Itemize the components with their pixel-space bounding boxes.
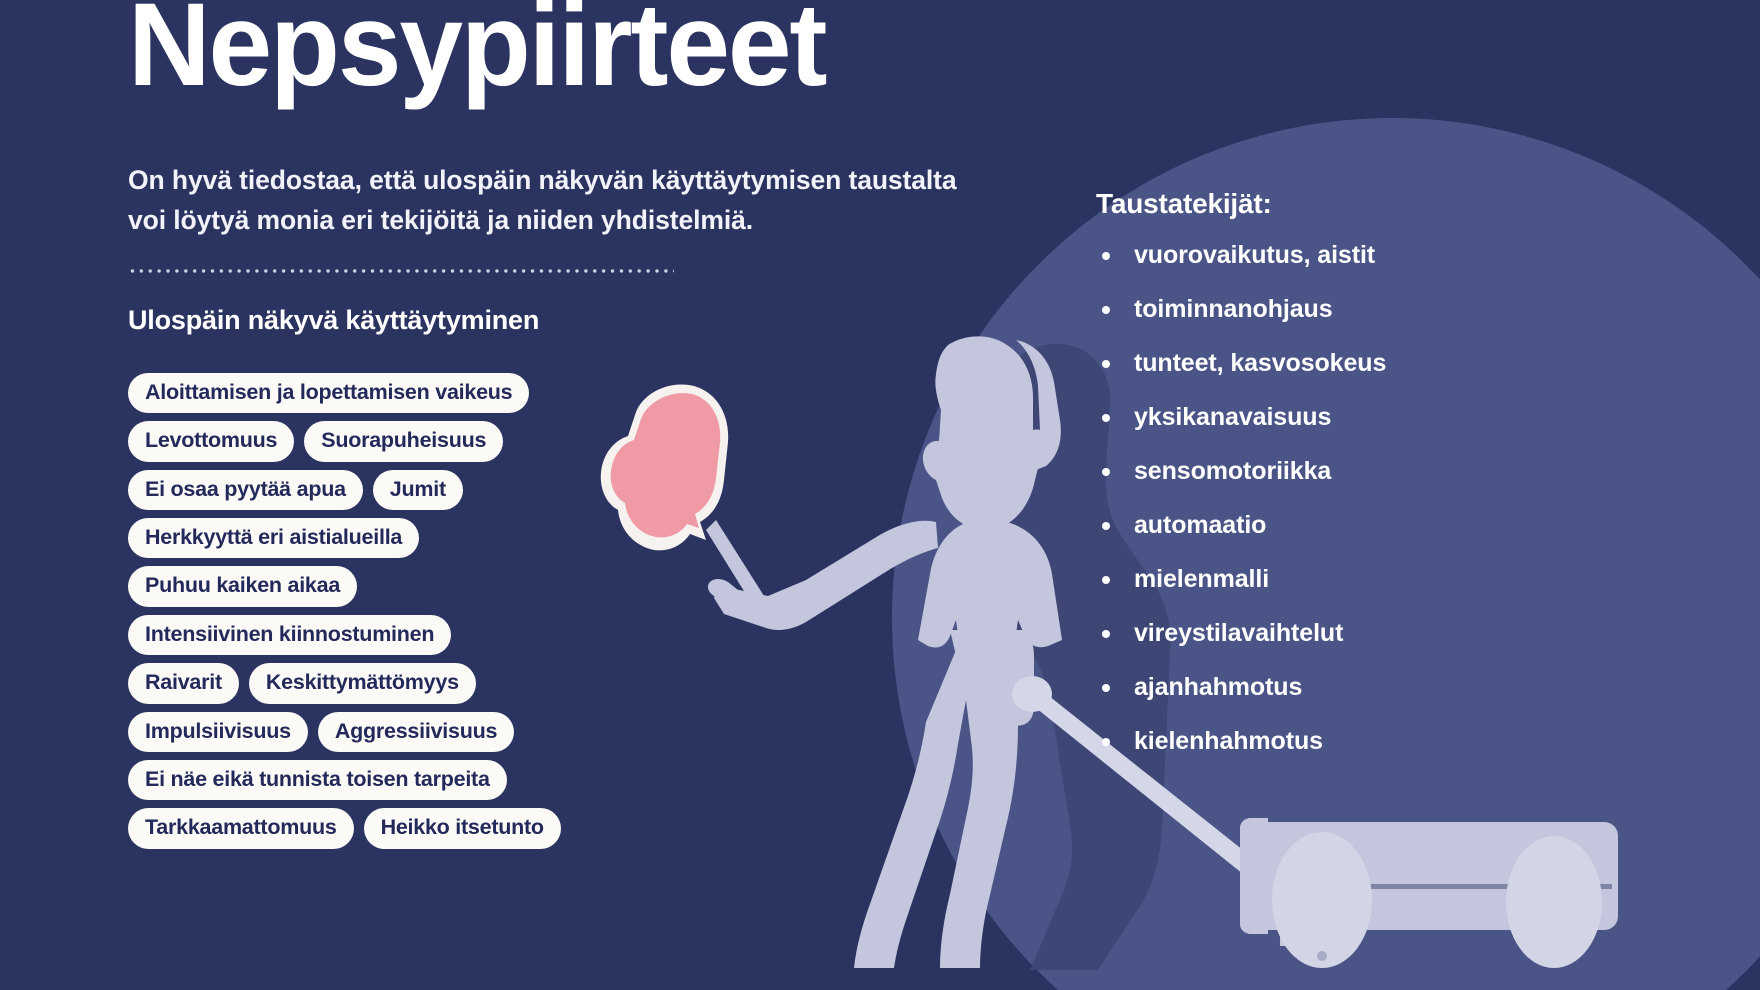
list-item: vireystilavaihtelut [1096,620,1696,648]
behaviour-pill[interactable]: Heikko itsetunto [364,808,561,848]
left-column: Nepsypiirteet On hyvä tiedostaa, että ul… [0,0,1000,990]
pill-row: Tarkkaamattomuus Heikko itsetunto [128,808,768,848]
pill-row: Impulsiivisuus Aggressiivisuus [128,712,768,752]
behaviour-pill[interactable]: Herkkyyttä eri aistialueilla [128,518,419,558]
bullet-icon [1102,468,1110,476]
list-item: ajanhahmotus [1096,674,1696,702]
intro-paragraph: On hyvä tiedostaa, että ulospäin näkyvän… [128,160,958,241]
behaviour-pill[interactable]: Ei osaa pyytää apua [128,470,363,510]
list-item-label: tunteet, kasvosokeus [1134,349,1386,377]
behaviour-pill[interactable]: Raivarit [128,663,239,703]
list-item-label: yksikanavaisuus [1134,403,1331,431]
pill-row: Levottomuus Suorapuheisuus [128,421,768,461]
infographic-poster: Nepsypiirteet On hyvä tiedostaa, että ul… [0,0,1760,990]
background-factor-list: vuorovaikutus, aistit toiminnanohjaus tu… [1096,242,1696,756]
list-item: yksikanavaisuus [1096,404,1696,432]
bullet-icon [1102,630,1110,638]
behaviour-pill[interactable]: Suorapuheisuus [304,421,503,461]
section-heading-background-factors: Taustatekijät: [1096,188,1696,220]
section-heading-visible-behaviour: Ulospäin näkyvä käyttäytyminen [128,305,539,336]
list-item: mielenmalli [1096,566,1696,594]
list-item: toiminnanohjaus [1096,296,1696,324]
list-item-label: kielenhahmotus [1134,727,1323,755]
bullet-icon [1102,738,1110,746]
behaviour-pill[interactable]: Aggressiivisuus [318,712,514,752]
list-item-label: automaatio [1134,511,1266,539]
dotted-divider [128,268,674,274]
list-item-label: vuorovaikutus, aistit [1134,241,1375,269]
behaviour-pill[interactable]: Levottomuus [128,421,294,461]
bullet-icon [1102,414,1110,422]
bullet-icon [1102,522,1110,530]
list-item-label: vireystilavaihtelut [1134,619,1343,647]
behaviour-pill[interactable]: Intensiivinen kiinnostuminen [128,615,451,655]
list-item: sensomotoriikka [1096,458,1696,486]
pill-row: Puhuu kaiken aikaa [128,566,768,606]
list-item-label: toiminnanohjaus [1134,295,1333,323]
pill-row: Aloittamisen ja lopettamisen vaikeus [128,373,768,413]
list-item: kielenhahmotus [1096,728,1696,756]
list-item-label: ajanhahmotus [1134,673,1302,701]
bullet-icon [1102,684,1110,692]
pill-row: Raivarit Keskittymättömyys [128,663,768,703]
behaviour-pill[interactable]: Ei näe eikä tunnista toisen tarpeita [128,760,507,800]
behaviour-pill[interactable]: Aloittamisen ja lopettamisen vaikeus [128,373,529,413]
behaviour-pill[interactable]: Jumit [373,470,463,510]
bullet-icon [1102,360,1110,368]
behaviour-pill-list: Aloittamisen ja lopettamisen vaikeus Lev… [128,373,768,857]
behaviour-pill[interactable]: Impulsiivisuus [128,712,308,752]
behaviour-pill[interactable]: Keskittymättömyys [249,663,476,703]
pill-row: Intensiivinen kiinnostuminen [128,615,768,655]
bullet-icon [1102,306,1110,314]
page-title: Nepsypiirteet [128,0,825,109]
right-column: Taustatekijät: vuorovaikutus, aistit toi… [1096,188,1696,782]
pill-row: Herkkyyttä eri aistialueilla [128,518,768,558]
list-item-label: sensomotoriikka [1134,457,1331,485]
behaviour-pill[interactable]: Puhuu kaiken aikaa [128,566,357,606]
list-item: automaatio [1096,512,1696,540]
pill-row: Ei näe eikä tunnista toisen tarpeita [128,760,768,800]
pill-row: Ei osaa pyytää apua Jumit [128,470,768,510]
list-item-label: mielenmalli [1134,565,1269,593]
behaviour-pill[interactable]: Tarkkaamattomuus [128,808,354,848]
list-item: tunteet, kasvosokeus [1096,350,1696,378]
bullet-icon [1102,576,1110,584]
bullet-icon [1102,252,1110,260]
list-item: vuorovaikutus, aistit [1096,242,1696,270]
